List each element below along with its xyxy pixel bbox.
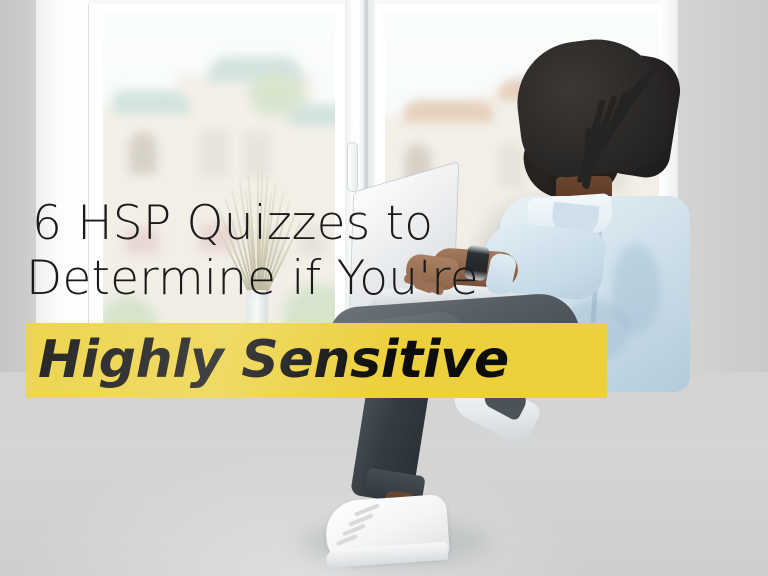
headline-line-3-highlighted: Highly Sensitive	[38, 327, 509, 393]
headline-line-2: Determine if You're	[26, 251, 726, 306]
text-overlay: 6 HSP Quizzes to Determine if You're Hig…	[0, 0, 768, 576]
headline-block: 6 HSP Quizzes to Determine if You're	[26, 196, 726, 306]
highlight-bar: Highly Sensitive	[26, 323, 607, 398]
blog-header-graphic: 6 HSP Quizzes to Determine if You're Hig…	[0, 0, 768, 576]
headline-line-1: 6 HSP Quizzes to	[26, 196, 726, 251]
